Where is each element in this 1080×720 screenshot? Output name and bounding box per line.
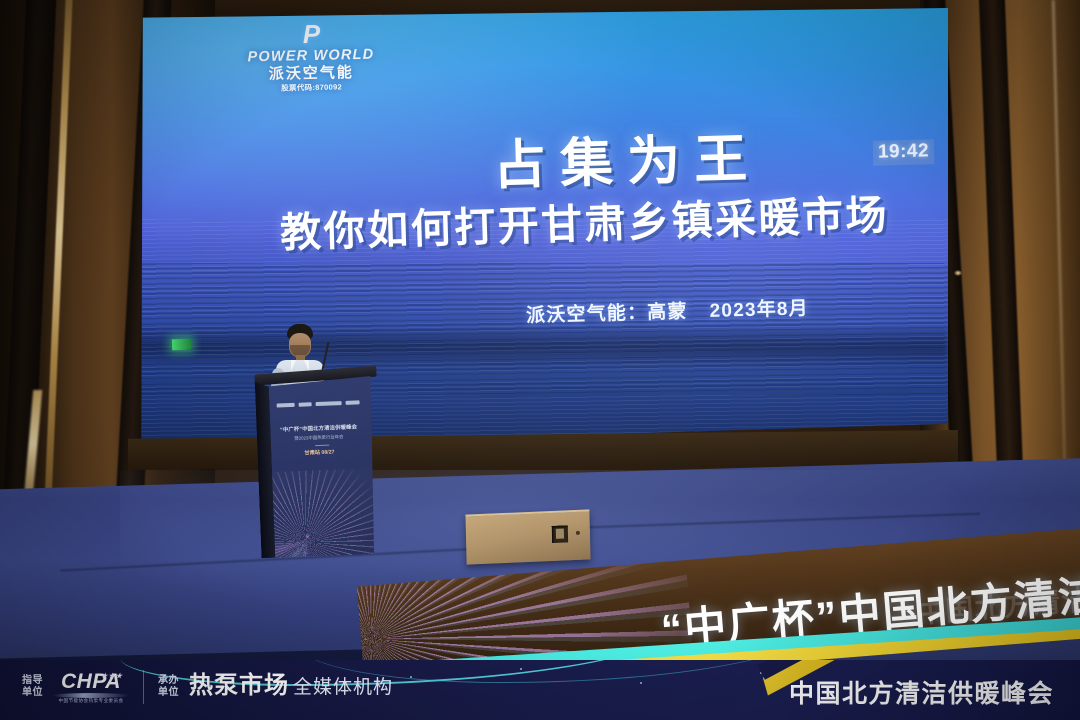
guide-unit-label: 指导 单位 xyxy=(22,675,43,699)
bottom-sponsor-bar: 指导 单位 CHPA ★★★ 中国节能协会热泵专业委员会 承办 单位 热泵市场 … xyxy=(0,660,1080,720)
presentation-date: 2023年8月 xyxy=(709,298,809,322)
guide-unit-label-line2: 单位 xyxy=(22,687,43,699)
host-unit-label: 承办 单位 xyxy=(158,675,179,699)
hatch-screw-icon xyxy=(576,531,580,535)
podium-event-location-date: 甘肃站 08/27 xyxy=(271,448,367,459)
sponsor-divider xyxy=(143,670,144,704)
chpa-swoosh-icon xyxy=(53,693,129,698)
bar-sparkle xyxy=(640,682,642,684)
slide-presenter-line: 派沃空气能：高蒙2023年8月 xyxy=(526,293,809,327)
slide-title-sub: 教你如何打开甘肃乡镇采暖市场 xyxy=(279,181,890,259)
sponsor-logo-chip xyxy=(315,401,341,406)
sponsor-logo-chip xyxy=(298,402,311,406)
chpa-logo: CHPA ★★★ 中国节能协会热泵专业委员会 xyxy=(53,669,129,704)
podium-front-panel: “中广杯”中国北方清洁供暖峰会 暨2023中国热泵行业年会 甘肃站 08/27 xyxy=(261,376,378,558)
exit-sign-glow-icon xyxy=(172,339,191,350)
guide-unit-label-line1: 指导 xyxy=(22,675,43,687)
organizer-name: 热泵市场 全媒体机构 xyxy=(189,673,393,701)
podium-firework-rays xyxy=(268,468,377,558)
speaker-collar xyxy=(291,360,296,371)
conference-stage-photograph: P POWER WORLD 派沃空气能 股票代码:870092 19:42 占集… xyxy=(0,0,1080,720)
speaker-podium: “中广杯”中国北方清洁供暖峰会 暨2023中国热泵行业年会 甘肃站 08/27 xyxy=(254,368,383,565)
event-title-bottom-right: 中国北方清洁供暖峰会 xyxy=(789,674,1054,710)
bar-sparkle xyxy=(520,668,522,670)
chpa-wordmark: CHPA ★★★ xyxy=(61,671,121,693)
wall-sconce-icon xyxy=(954,270,962,276)
sponsor-group: 指导 单位 CHPA ★★★ 中国节能协会热泵专业委员会 承办 单位 热泵市场 … xyxy=(22,669,393,704)
stage-floor-access-hatch xyxy=(465,509,590,564)
hatch-handle-slot-icon xyxy=(552,525,568,543)
bar-sparkle xyxy=(410,676,412,678)
presenter-name: 派沃空气能：高蒙 xyxy=(526,301,688,326)
podium-sponsor-logos xyxy=(276,400,360,407)
organizer-main-name: 热泵市场 xyxy=(189,673,289,699)
chpa-stars-icon: ★★★ xyxy=(101,666,123,688)
podium-event-subtitle: 暨2023中国热泵行业年会 xyxy=(271,433,367,443)
organizer-sub-name: 全媒体机构 xyxy=(293,675,393,701)
chpa-chinese-name: 中国节能协会热泵专业委员会 xyxy=(53,698,129,704)
host-unit-label-line1: 承办 xyxy=(158,675,179,687)
host-unit-label-line2: 单位 xyxy=(158,687,179,699)
podium-divider xyxy=(315,445,329,447)
sponsor-logo-chip xyxy=(276,403,294,408)
sponsor-logo-chip xyxy=(345,400,359,405)
